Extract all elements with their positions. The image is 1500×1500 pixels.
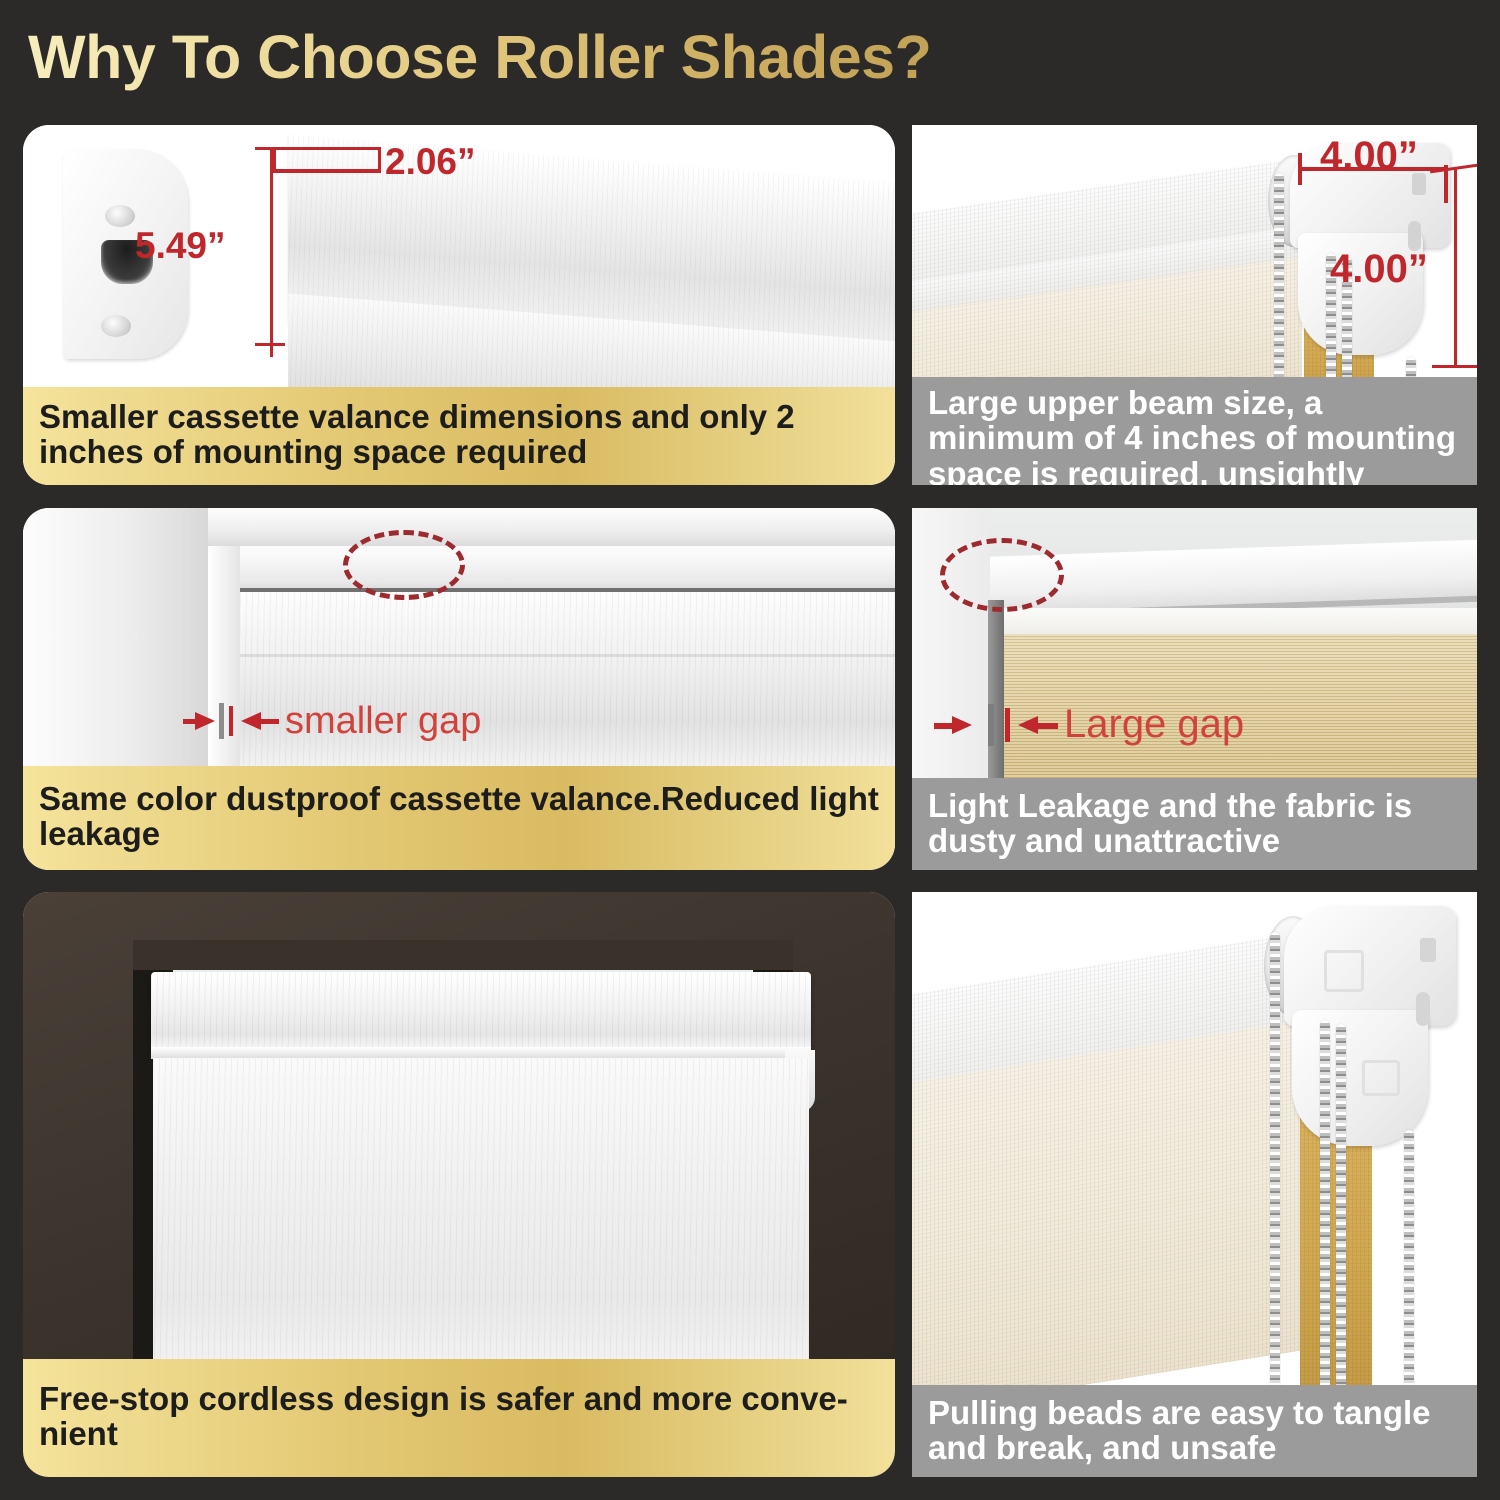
gap-arrow-left-stem [934, 723, 956, 729]
panel-3-caption-text: Same color dustproof cassette valance.Re… [39, 781, 879, 852]
bracket-height-label: 4.00” [1330, 247, 1428, 292]
width-extension-line [273, 147, 381, 150]
panel-1-caption-text: Smaller cassette valance dimensions and … [39, 399, 879, 470]
valance-screw-bottom [101, 315, 131, 337]
gap-bar-left [219, 703, 224, 739]
panel-5-caption-text: Free-stop cordless design is safer and m… [39, 1381, 879, 1452]
panel-pulling-beads-tangle[interactable]: Pulling beads are easy to tangle and bre… [912, 892, 1477, 1477]
height-top-cap [255, 147, 285, 150]
panel-5-caption: Free-stop cordless design is safer and m… [23, 1359, 895, 1477]
large-gap-label: Large gap [1064, 702, 1244, 747]
width-dimension-tick-left [273, 147, 276, 173]
panel-6-caption-text: Pulling beads are easy to tangle and bre… [928, 1395, 1461, 1466]
page-title: Why To Choose Roller Shades? [28, 22, 931, 92]
bracket-height-line [1454, 167, 1457, 367]
bracket-notch-b [1416, 992, 1430, 1026]
gap-arrow-right [1018, 716, 1038, 734]
panel-dustproof-cassette-valance[interactable]: smaller gap Same color dustproof cassett… [23, 508, 895, 870]
width-dimension-line [273, 169, 381, 173]
window-frame-inner-left [208, 546, 240, 773]
fabric-texture [240, 592, 895, 773]
panel-3-caption: Same color dustproof cassette valance.Re… [23, 766, 895, 870]
width-dimension-label: 2.06” [385, 141, 476, 183]
mounting-bracket [1284, 906, 1456, 1026]
gap-bar-right [1005, 708, 1010, 742]
width-dimension-tick-right [378, 147, 381, 173]
fabric-fold-line [240, 654, 895, 657]
gap-arrow-left-stem [183, 719, 199, 724]
gap-highlight-ellipse [343, 530, 465, 600]
bracket-notch-a [1420, 938, 1436, 962]
bracket-width-label: 4.00” [1320, 134, 1418, 179]
gap-arrow-right-stem [1036, 723, 1058, 729]
panel-1-caption: Smaller cassette valance dimensions and … [23, 387, 895, 485]
bracket-width-tick-left [1298, 153, 1302, 185]
panel-6-caption: Pulling beads are easy to tangle and bre… [912, 1385, 1477, 1477]
valance-texture [151, 972, 811, 1052]
gap-bar-left [988, 704, 994, 746]
white-fabric-strip [1004, 608, 1477, 634]
window-frame-left [23, 508, 208, 773]
panel-4-caption: Light Leakage and the fabric is dusty an… [912, 778, 1477, 870]
smaller-gap-label: smaller gap [285, 700, 481, 743]
light-gap-strip [988, 600, 1004, 790]
window-frame-top [208, 508, 895, 546]
shade-fabric-texture [153, 1058, 809, 1398]
height-bottom-cap [255, 343, 285, 346]
gap-arrow-right-stem [259, 719, 279, 724]
panel-light-leakage-dusty-fabric[interactable]: Large gap Light Leakage and the fabric i… [912, 508, 1477, 870]
height-dimension-label: 5.49” [135, 225, 226, 267]
gap-highlight-ellipse [940, 538, 1064, 612]
gap-arrow-right [241, 712, 261, 730]
panel-4-caption-text: Light Leakage and the fabric is dusty an… [928, 788, 1461, 859]
gap-bar-right [229, 706, 233, 736]
mounting-bracket-lower [1292, 1010, 1428, 1146]
panel-cassette-valance-dimensions[interactable]: 2.06” 5.49” Smaller cassette valance dim… [23, 125, 895, 485]
panel-2-caption: Large upper beam size, a minimum of 4 in… [912, 377, 1477, 485]
bracket-height-bottom-cap [1432, 365, 1477, 368]
window-reveal-top [133, 940, 793, 970]
panel-large-upper-beam[interactable]: 4.00” 4.00” Large upper beam size, a min… [912, 125, 1477, 485]
beige-fabric [912, 1020, 1302, 1413]
bracket-emblem-bottom [1362, 1060, 1400, 1096]
height-dimension-line [270, 147, 273, 357]
panel-2-caption-text: Large upper beam size, a minimum of 4 in… [928, 385, 1461, 485]
bracket-emblem-top [1324, 950, 1364, 992]
panel-free-stop-cordless-design[interactable]: Free-stop cordless design is safer and m… [23, 892, 895, 1477]
valance-screw-top [105, 205, 135, 227]
